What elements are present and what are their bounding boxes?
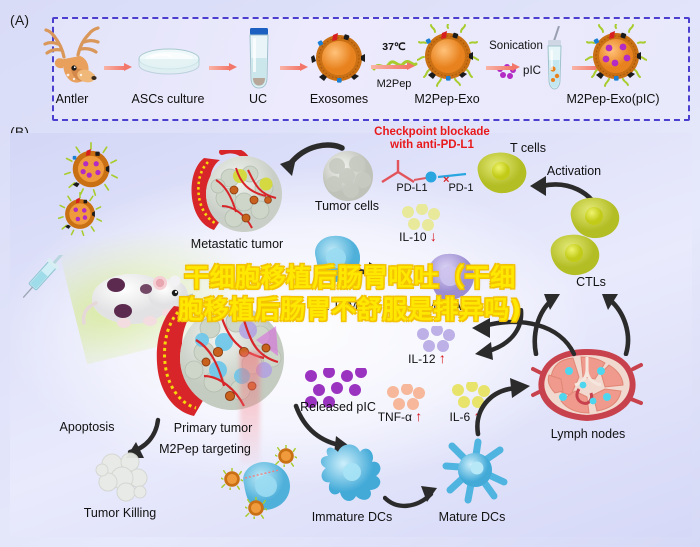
label-lymph-nodes: Lymph nodes — [551, 427, 626, 441]
primary-tumor-illustration — [148, 300, 296, 422]
tnf-alpha-arrow: ↑ — [415, 408, 422, 424]
syringe-illustration — [12, 255, 68, 311]
cytokine-il-10: IL-10 ↓ — [399, 228, 437, 244]
label-sonication: Sonication — [489, 40, 543, 52]
m2-tam-illustration — [308, 232, 366, 286]
process-arrow-3 — [280, 63, 308, 72]
label-exosomes: Exosomes — [310, 92, 368, 106]
label-temperature: 37℃ — [382, 41, 405, 53]
checkpoint-blockade-note: Checkpoint blockade with anti-PD-L1 — [374, 126, 490, 152]
process-arrow-5 — [486, 63, 520, 72]
label-tumor-cells: Tumor cells — [315, 199, 379, 213]
process-arrow-1 — [104, 63, 132, 72]
checkpoint-line-2: with anti-PD-L1 — [390, 139, 474, 151]
arrow-lymph-to-ctls — [460, 316, 580, 362]
mature-dc-illustration — [438, 438, 512, 506]
sonication-tube-illustration — [539, 26, 569, 92]
label-ctls: CTLs — [576, 275, 606, 289]
targeting-exosome-2 — [221, 468, 243, 490]
process-arrow-4b — [371, 62, 415, 71]
label-pd-1: PD-1 — [448, 182, 473, 195]
label-ascs-culture: ASCs culture — [132, 92, 205, 106]
petri-dish-illustration — [137, 46, 201, 76]
il-10-arrow: ↓ — [430, 228, 437, 244]
antler-deer-illustration — [38, 23, 110, 93]
free-exosome-2 — [58, 192, 102, 236]
checkpoint-line-1: Checkpoint blockade — [374, 126, 490, 138]
il-12-label: IL-12 — [408, 352, 435, 366]
targeting-link-line — [243, 468, 283, 482]
targeting-exosome-3 — [245, 497, 267, 519]
ctl-cell-2 — [545, 232, 603, 278]
arrow-immature-to-mature-dc — [383, 476, 439, 510]
immature-dc-illustration — [318, 442, 388, 506]
label-m2pep-targeting: M2Pep targeting — [159, 442, 251, 456]
label-antler: Antler — [56, 92, 89, 106]
label-apoptosis: Apoptosis — [60, 420, 115, 434]
scientific-figure: (A) Antler — [0, 0, 700, 547]
il-10-label: IL-10 — [399, 230, 426, 244]
label-m2pep: M2Pep — [377, 78, 412, 90]
il-6-label: IL-6 — [449, 410, 470, 424]
label-t-cells: T cells — [510, 141, 546, 155]
arrow-dc-to-lymph-node — [472, 376, 538, 438]
label-m2pep-exo-pic: M2Pep-Exo(pIC) — [566, 92, 659, 106]
free-exosome-1 — [64, 142, 118, 196]
cytokine-il-12: IL-12 ↑ — [408, 350, 446, 366]
label-m2pep-exo: M2Pep-Exo — [414, 92, 479, 106]
label-immature-dcs: Immature DCs — [312, 510, 393, 524]
label-pd-l1: PD-L1 — [396, 182, 427, 195]
m2pep-exosome-pic-illustration — [585, 24, 647, 88]
cytokine-tnf-alpha: TNF-α ↑ — [378, 408, 423, 424]
label-uc: UC — [249, 92, 267, 106]
tnf-alpha-label: TNF-α — [378, 410, 412, 424]
m2pep-exosome-illustration — [417, 24, 479, 88]
label-primary-tumor: Primary tumor — [174, 421, 252, 435]
exosome-illustration — [311, 30, 367, 86]
label-metastatic-tumor: Metastatic tumor — [191, 237, 283, 251]
label-m2-tams: M2 TAMs — [312, 299, 364, 313]
panel-a-tag: (A) — [10, 12, 29, 28]
tumor-cells-illustration — [317, 148, 379, 204]
il-12-arrow: ↑ — [439, 350, 446, 366]
m1-tam-illustration — [422, 250, 480, 304]
centrifuge-tube-illustration — [246, 28, 272, 90]
label-tumor-killing: Tumor Killing — [84, 506, 156, 520]
apoptotic-tumor-illustration — [92, 448, 152, 504]
process-arrow-2 — [209, 63, 237, 72]
label-mature-dcs: Mature DCs — [439, 510, 506, 524]
